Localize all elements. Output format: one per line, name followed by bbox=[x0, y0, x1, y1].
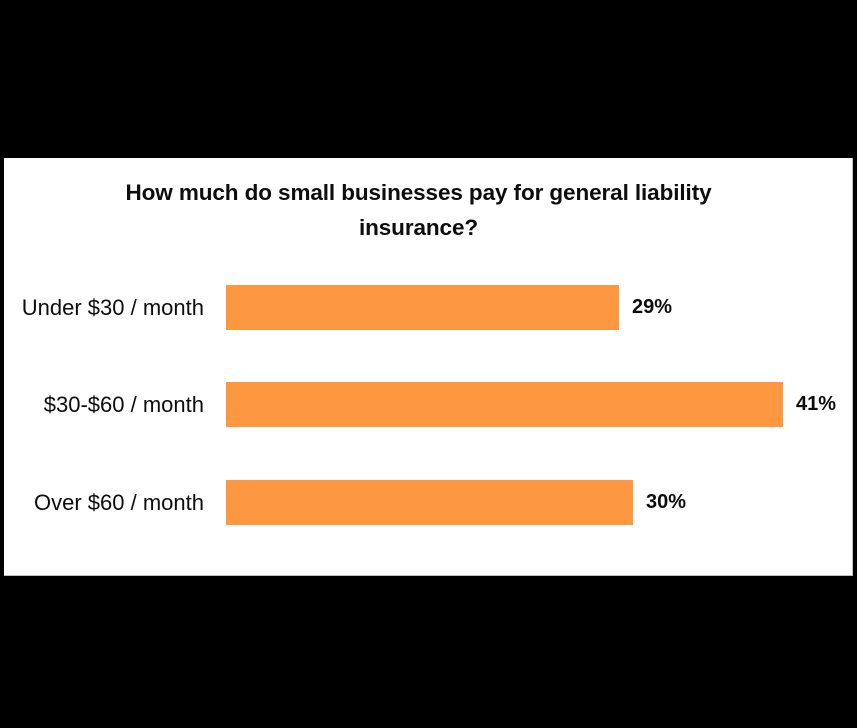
bar-row: Under $30 / month 29% bbox=[4, 285, 853, 330]
chart-title-line-2: insurance? bbox=[96, 210, 741, 245]
category-label-under-30: Under $30 / month bbox=[4, 285, 204, 330]
bar-under-30[interactable] bbox=[226, 285, 619, 330]
chart-title: How much do small businesses pay for gen… bbox=[96, 175, 741, 245]
bar-row: Over $60 / month 30% bbox=[4, 480, 853, 525]
bar-track: 30% bbox=[226, 480, 853, 525]
bar-value-30-60: 41% bbox=[796, 382, 836, 427]
chart-title-line-1: How much do small businesses pay for gen… bbox=[96, 175, 741, 210]
bar-30-60[interactable] bbox=[226, 382, 783, 427]
bar-row: $30-$60 / month 41% bbox=[4, 382, 853, 427]
plot-area: Under $30 / month 29% $30-$60 / month 41… bbox=[4, 270, 853, 560]
bar-track: 41% bbox=[226, 382, 853, 427]
category-label-over-60: Over $60 / month bbox=[4, 480, 204, 525]
bar-over-60[interactable] bbox=[226, 480, 633, 525]
category-label-30-60: $30-$60 / month bbox=[4, 382, 204, 427]
chart-panel: How much do small businesses pay for gen… bbox=[4, 158, 853, 576]
screenshot-canvas: How much do small businesses pay for gen… bbox=[0, 0, 857, 728]
bar-value-under-30: 29% bbox=[632, 285, 672, 330]
bar-value-over-60: 30% bbox=[646, 480, 686, 525]
bar-track: 29% bbox=[226, 285, 853, 330]
